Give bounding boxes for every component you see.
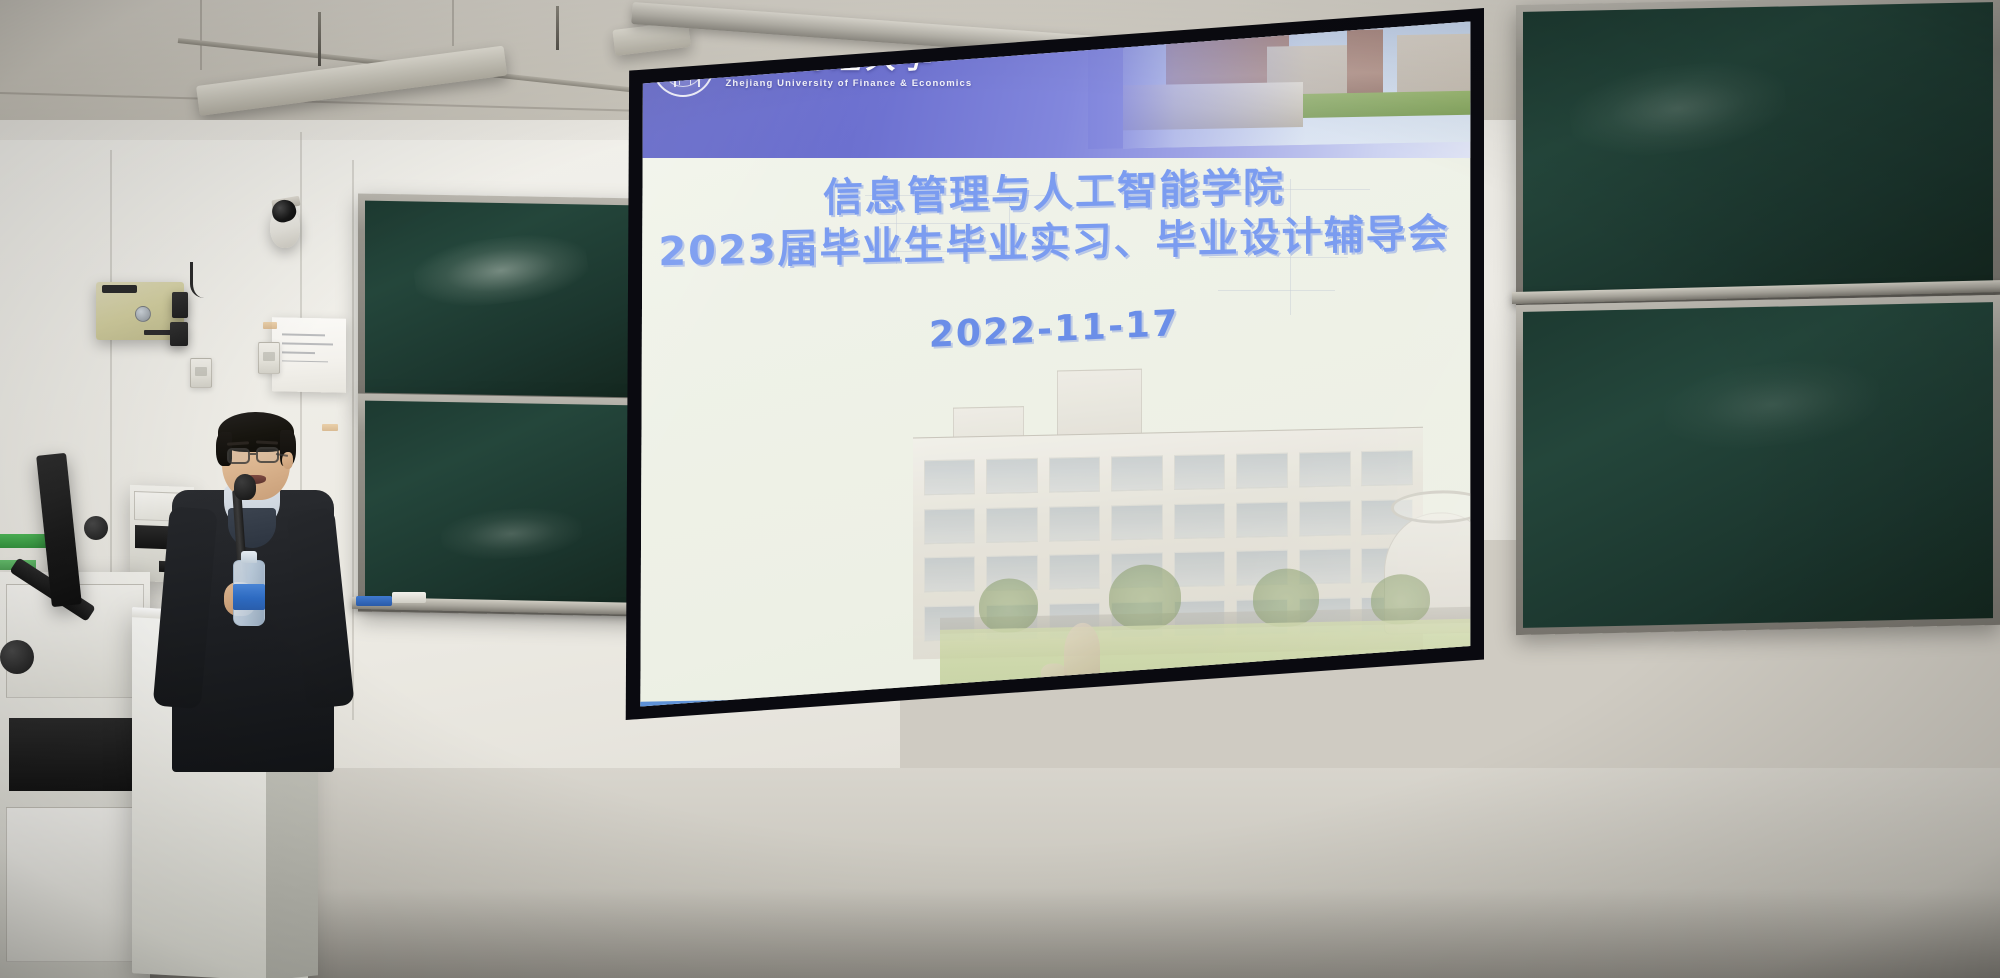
building-window <box>923 460 975 496</box>
building-window-row <box>913 450 1423 496</box>
slide-surface: 浙江财经大学 Zhejiang University of Finance & … <box>624 8 1484 720</box>
wall-panel-seam <box>110 150 112 630</box>
building-window <box>986 507 1038 543</box>
building-window <box>1111 456 1163 492</box>
wall-label-tag <box>263 322 277 329</box>
wall-panel-seam <box>352 160 354 720</box>
control-box-slot <box>144 330 172 335</box>
building-roof-ring <box>1390 490 1484 524</box>
bottle-label <box>233 584 265 610</box>
wall-plate-mark <box>195 367 206 375</box>
light-suspension-rod <box>318 12 321 66</box>
projection-screen-assembly: 浙江财经大学 Zhejiang University of Finance & … <box>624 8 1484 720</box>
monitor-arm-joint[interactable] <box>84 516 108 540</box>
blackboard-upper-right <box>1516 0 2000 305</box>
indicator-strip <box>0 534 46 548</box>
control-box-indicator <box>135 306 151 322</box>
water-bottle[interactable] <box>233 560 265 626</box>
building-window <box>1048 505 1100 541</box>
building-window <box>923 557 975 593</box>
blackboard-surface <box>365 401 637 610</box>
cabinet-dark-panel <box>9 718 141 791</box>
building-window <box>986 458 1038 494</box>
slide-body: 信息管理与人工智能学院 2023届毕业生毕业实习、毕业设计辅导会 2022-11… <box>624 143 1484 720</box>
wall-switch-plate[interactable] <box>190 358 212 388</box>
campus-tree <box>1370 574 1429 625</box>
blue-marker[interactable] <box>356 596 392 606</box>
building-window <box>1298 452 1350 488</box>
campus-tree <box>1109 565 1181 631</box>
wall-switch-plate[interactable] <box>258 342 280 374</box>
blackboard-glare <box>439 504 584 563</box>
eyeglasses-bridge <box>250 453 256 455</box>
control-box-strip <box>102 285 137 293</box>
campus-stone-monument <box>1063 623 1099 681</box>
blackboard-surface <box>1523 302 1993 628</box>
blackboard-lower-right <box>1516 295 2000 635</box>
building-window <box>1298 500 1350 536</box>
cabinet-door[interactable] <box>6 807 144 961</box>
eyeglasses-left-lens <box>227 448 250 464</box>
poster-text-line <box>282 351 315 353</box>
campus-building-watermark <box>848 333 1484 704</box>
blackboard-glare <box>410 227 591 313</box>
building-window <box>1048 554 1100 590</box>
chalk-eraser[interactable] <box>392 592 426 603</box>
poster-text-line <box>282 334 325 336</box>
campus-tree <box>978 578 1037 633</box>
building-window <box>1173 454 1225 490</box>
blackboard-lower-left <box>358 394 644 617</box>
blackboard-surface <box>1523 2 1993 298</box>
slide-title-block: 信息管理与人工智能学院 2023届毕业生毕业实习、毕业设计辅导会 2022-11… <box>624 159 1484 360</box>
campus-tree <box>1253 569 1318 628</box>
wall-plate-mark <box>263 352 274 361</box>
power-cable <box>190 262 204 298</box>
blackboard-surface <box>365 201 637 398</box>
poster-text-line <box>282 360 328 362</box>
bottle-cap <box>241 551 258 563</box>
projected-slide: 浙江财经大学 Zhejiang University of Finance & … <box>624 8 1484 720</box>
building-window <box>1111 504 1163 540</box>
light-suspension-rod <box>556 6 559 50</box>
av-module <box>170 322 188 346</box>
building-window-row <box>913 499 1423 545</box>
ceiling-seam <box>200 0 202 70</box>
blackboard-upper-left <box>358 194 644 405</box>
building-window <box>1236 453 1288 489</box>
blackboard-glare <box>1661 352 1884 457</box>
av-module <box>172 292 188 318</box>
lecture-hall-photo: 浙江财经大学 Zhejiang University of Finance & … <box>0 0 2000 978</box>
building-window <box>923 508 975 544</box>
building-window <box>1361 450 1413 486</box>
building-window <box>1236 502 1288 538</box>
building-window <box>1173 503 1225 539</box>
ceiling-seam <box>452 0 454 46</box>
building-window <box>1048 457 1100 493</box>
av-equipment-cabinet[interactable] <box>0 572 150 978</box>
poster-text-line <box>282 343 332 346</box>
university-name-en: Zhejiang University of Finance & Economi… <box>726 78 973 89</box>
building-window <box>1173 551 1225 587</box>
monitor-base <box>0 640 34 674</box>
blackboard-glare <box>1566 53 1790 165</box>
microphone-head[interactable] <box>234 474 256 500</box>
wall-notice-poster <box>272 317 346 393</box>
